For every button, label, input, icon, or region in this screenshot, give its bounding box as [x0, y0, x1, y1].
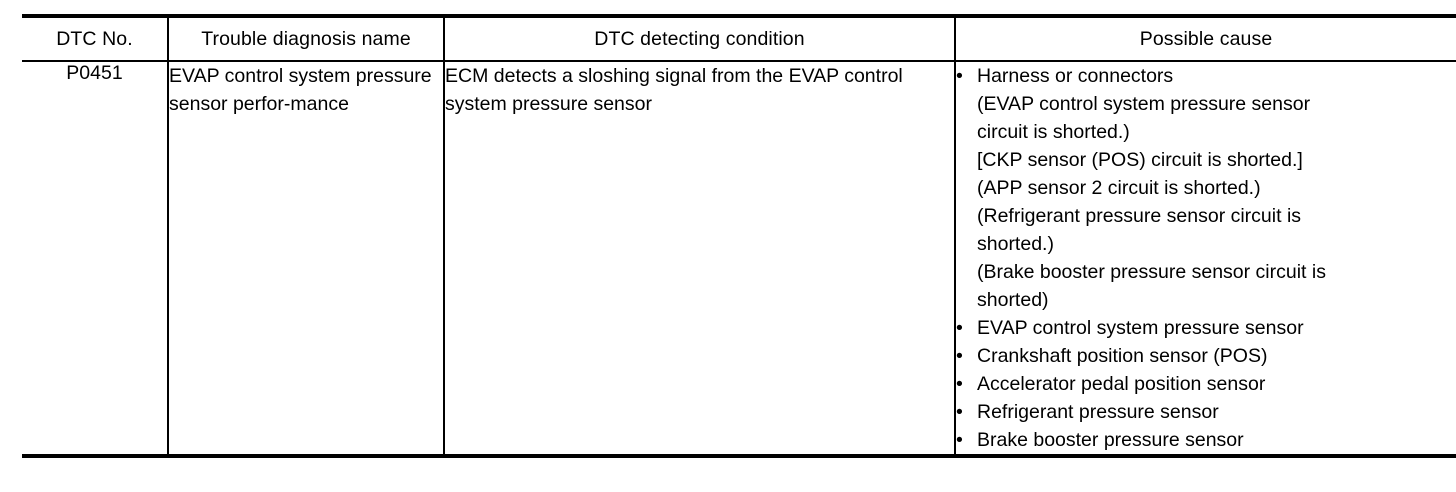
cell-possible-cause: •Harness or connectors(EVAP control syst…: [955, 61, 1456, 456]
possible-cause-line: circuit is shorted.): [977, 118, 1456, 146]
table-row: P0451 EVAP control system pressure senso…: [22, 61, 1456, 456]
table-body: P0451 EVAP control system pressure senso…: [22, 61, 1456, 456]
possible-cause-line: shorted): [977, 286, 1456, 314]
column-header-possible-cause: Possible cause: [955, 16, 1456, 61]
possible-cause-line: [CKP sensor (POS) circuit is shorted.]: [977, 146, 1456, 174]
possible-cause-line: Crankshaft position sensor (POS): [977, 342, 1456, 370]
possible-cause-line: Harness or connectors: [977, 62, 1456, 90]
possible-cause-line: Brake booster pressure sensor: [977, 426, 1456, 454]
dtc-table-page: DTC No. Trouble diagnosis name DTC detec…: [0, 0, 1456, 492]
possible-cause-item: •Accelerator pedal position sensor: [956, 370, 1456, 398]
column-header-dtc-detecting-condition: DTC detecting condition: [444, 16, 955, 61]
possible-cause-line: Accelerator pedal position sensor: [977, 370, 1456, 398]
possible-cause-line: shorted.): [977, 230, 1456, 258]
cell-dtc-detecting-condition: ECM detects a sloshing signal from the E…: [444, 61, 955, 456]
dtc-index-table: DTC No. Trouble diagnosis name DTC detec…: [22, 14, 1456, 458]
trouble-diagnosis-name-text: EVAP control system pressure sensor perf…: [169, 65, 432, 115]
possible-cause-item: •Crankshaft position sensor (POS): [956, 342, 1456, 370]
bullet-icon: •: [956, 342, 977, 370]
column-header-trouble-diagnosis-name: Trouble diagnosis name: [168, 16, 444, 61]
possible-cause-line: (APP sensor 2 circuit is shorted.): [977, 174, 1456, 202]
bullet-icon: •: [956, 426, 977, 454]
table-header: DTC No. Trouble diagnosis name DTC detec…: [22, 16, 1456, 61]
cell-trouble-diagnosis-name: EVAP control system pressure sensor perf…: [168, 61, 444, 456]
possible-cause-line: (Refrigerant pressure sensor circuit is: [977, 202, 1456, 230]
possible-cause-item: •Brake booster pressure sensor: [956, 426, 1456, 454]
possible-cause-line: EVAP control system pressure sensor: [977, 314, 1456, 342]
possible-cause-item: •EVAP control system pressure sensor: [956, 314, 1456, 342]
possible-cause-list: •Harness or connectors(EVAP control syst…: [956, 62, 1456, 454]
column-header-dtc-no: DTC No.: [22, 16, 168, 61]
possible-cause-line: (EVAP control system pressure sensor: [977, 90, 1456, 118]
possible-cause-item: •Refrigerant pressure sensor: [956, 398, 1456, 426]
possible-cause-line: (Brake booster pressure sensor circuit i…: [977, 258, 1456, 286]
cell-dtc-no: P0451: [22, 61, 168, 456]
dtc-detecting-condition-text: ECM detects a sloshing signal from the E…: [445, 65, 903, 115]
possible-cause-line: Refrigerant pressure sensor: [977, 398, 1456, 426]
bullet-icon: •: [956, 62, 977, 90]
table-header-row: DTC No. Trouble diagnosis name DTC detec…: [22, 16, 1456, 61]
bullet-icon: •: [956, 314, 977, 342]
possible-cause-item: •Harness or connectors(EVAP control syst…: [956, 62, 1456, 314]
bullet-icon: •: [956, 398, 977, 426]
bullet-icon: •: [956, 370, 977, 398]
